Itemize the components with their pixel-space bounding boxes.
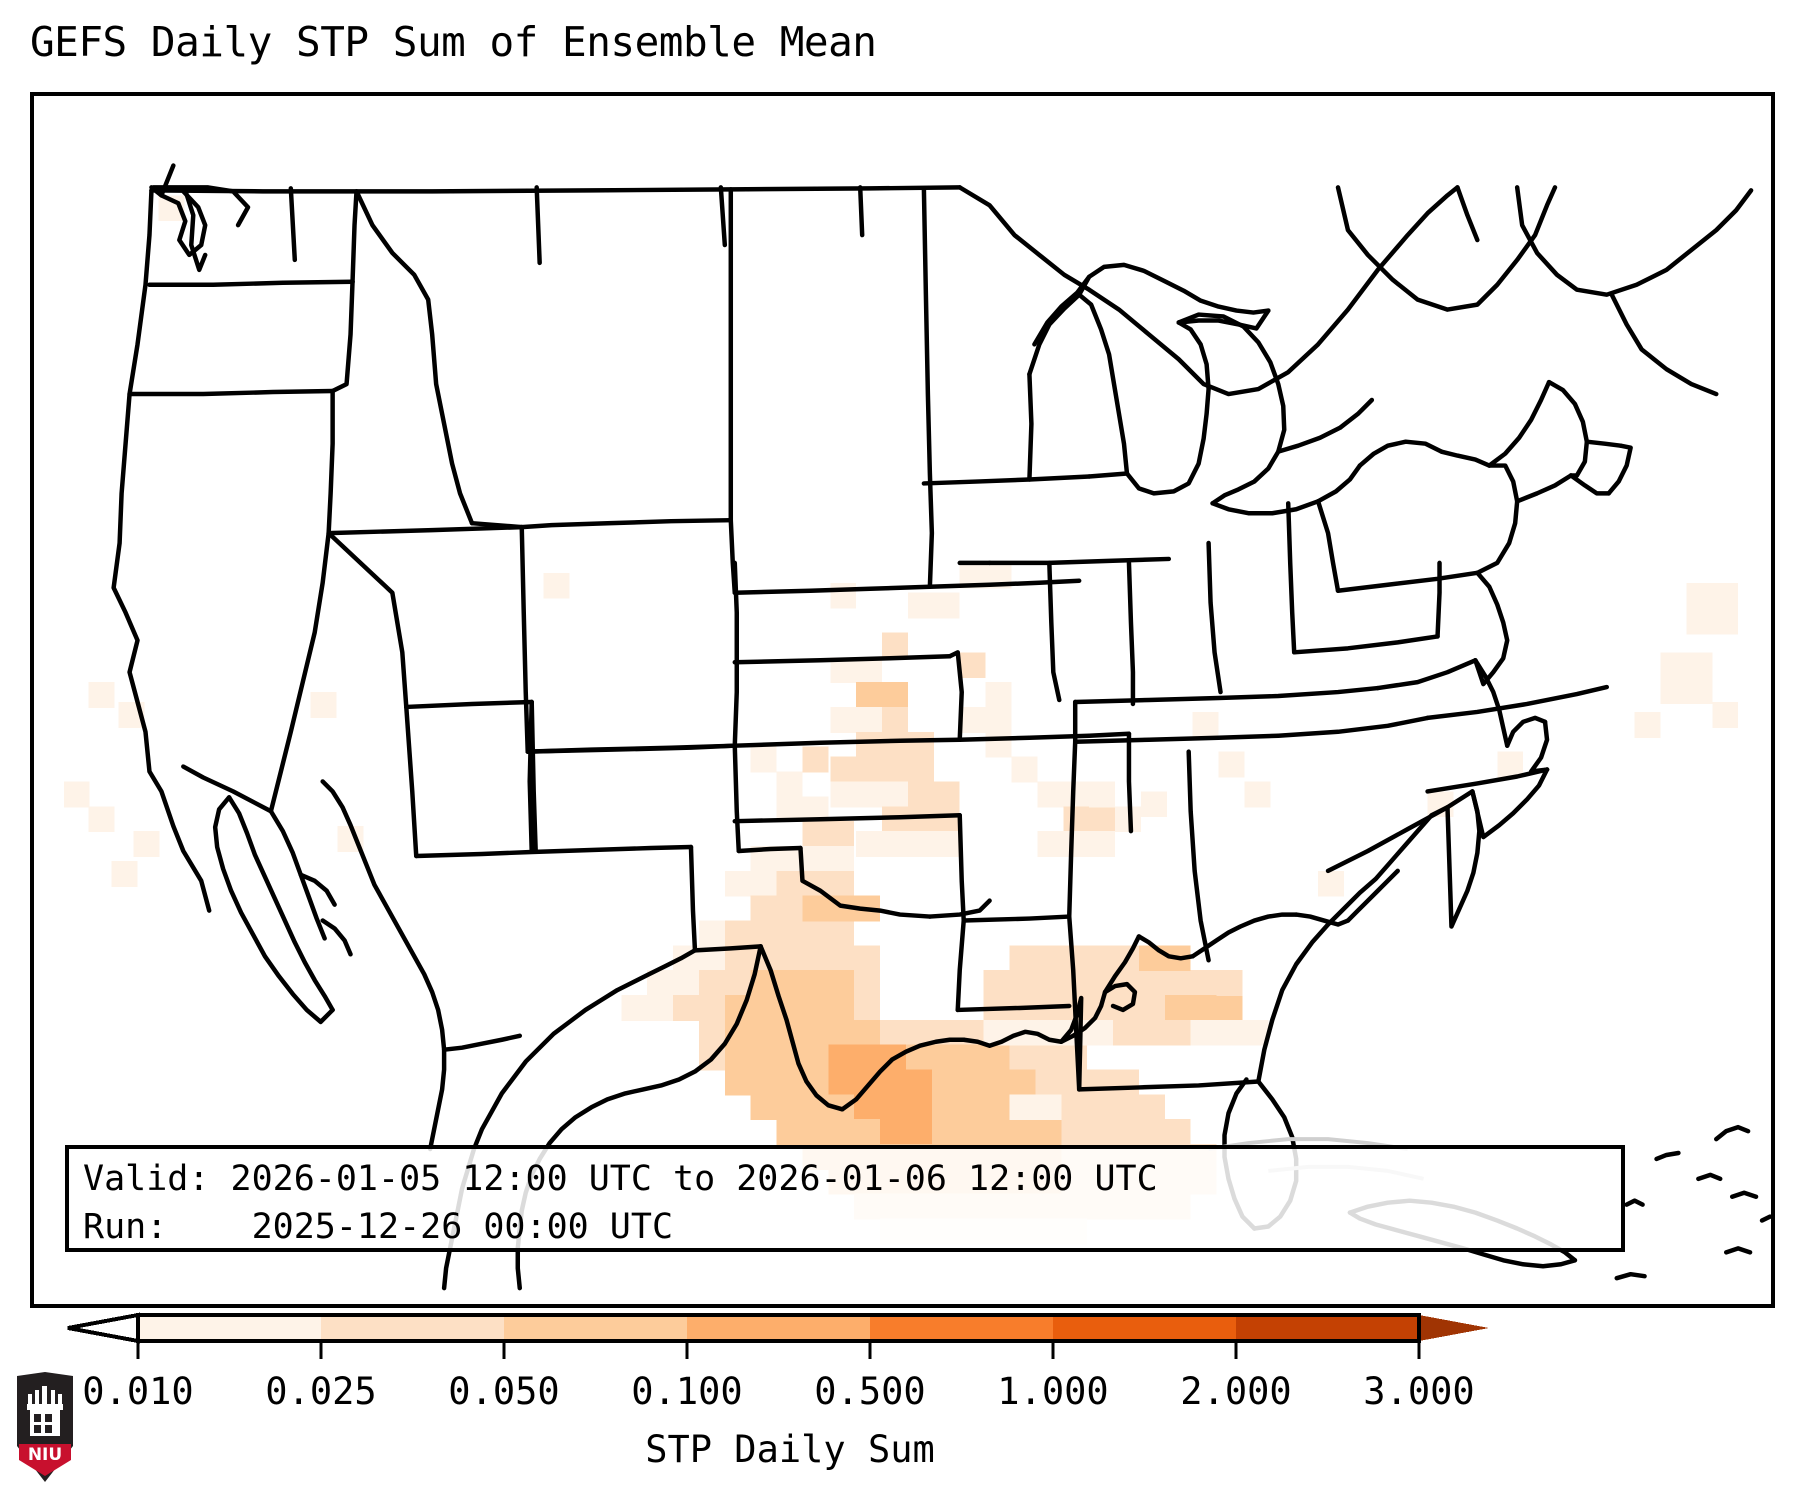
colorbar-tick-label-6: 2.000 [1180,1370,1291,1413]
niu-logo-svg: NIU [14,1372,76,1484]
colorbar-band[interactable] [687,1315,870,1341]
annotation-box: Valid: 2026-01-05 12:00 UTC to 2026-01-0… [65,1145,1625,1252]
map-frame [30,92,1775,1308]
run-time-text: Run: 2025-12-26 00:00 UTC [83,1203,1607,1251]
colorbar-tick-label-7: 3.000 [1363,1370,1474,1413]
colorbar-band[interactable] [504,1315,687,1341]
colorbar-tick-label-4: 0.500 [814,1370,925,1413]
colorbar-tick-label-5: 1.000 [997,1370,1108,1413]
colorbar-axis-label: STP Daily Sum [645,1428,935,1471]
colorbar-bands[interactable] [68,1315,1489,1341]
colorbar-extend-min-arrow [68,1315,138,1341]
colorbar-ticks [138,1341,1419,1359]
colorbar-svg[interactable] [0,1307,1803,1367]
colorbar-tick-label-2: 0.050 [448,1370,559,1413]
colorbar[interactable] [0,1307,1803,1367]
colorbar-tick-label-3: 0.100 [631,1370,742,1413]
valid-time-text: Valid: 2026-01-05 12:00 UTC to 2026-01-0… [83,1155,1607,1203]
colorbar-tick-label-1: 0.025 [265,1370,376,1413]
colorbar-tick-label-0: 0.010 [82,1370,193,1413]
colorbar-band[interactable] [138,1315,321,1341]
map-canvas [34,96,1771,1304]
colorbar-band[interactable] [1053,1315,1236,1341]
niu-logo-text: NIU [28,1445,62,1465]
colorbar-band[interactable] [1236,1315,1419,1341]
niu-logo: NIU [14,1372,76,1484]
colorbar-band[interactable] [870,1315,1053,1341]
page-title: GEFS Daily STP Sum of Ensemble Mean [30,18,876,66]
colorbar-extend-max-arrow [1419,1315,1489,1341]
colorbar-band[interactable] [321,1315,504,1341]
